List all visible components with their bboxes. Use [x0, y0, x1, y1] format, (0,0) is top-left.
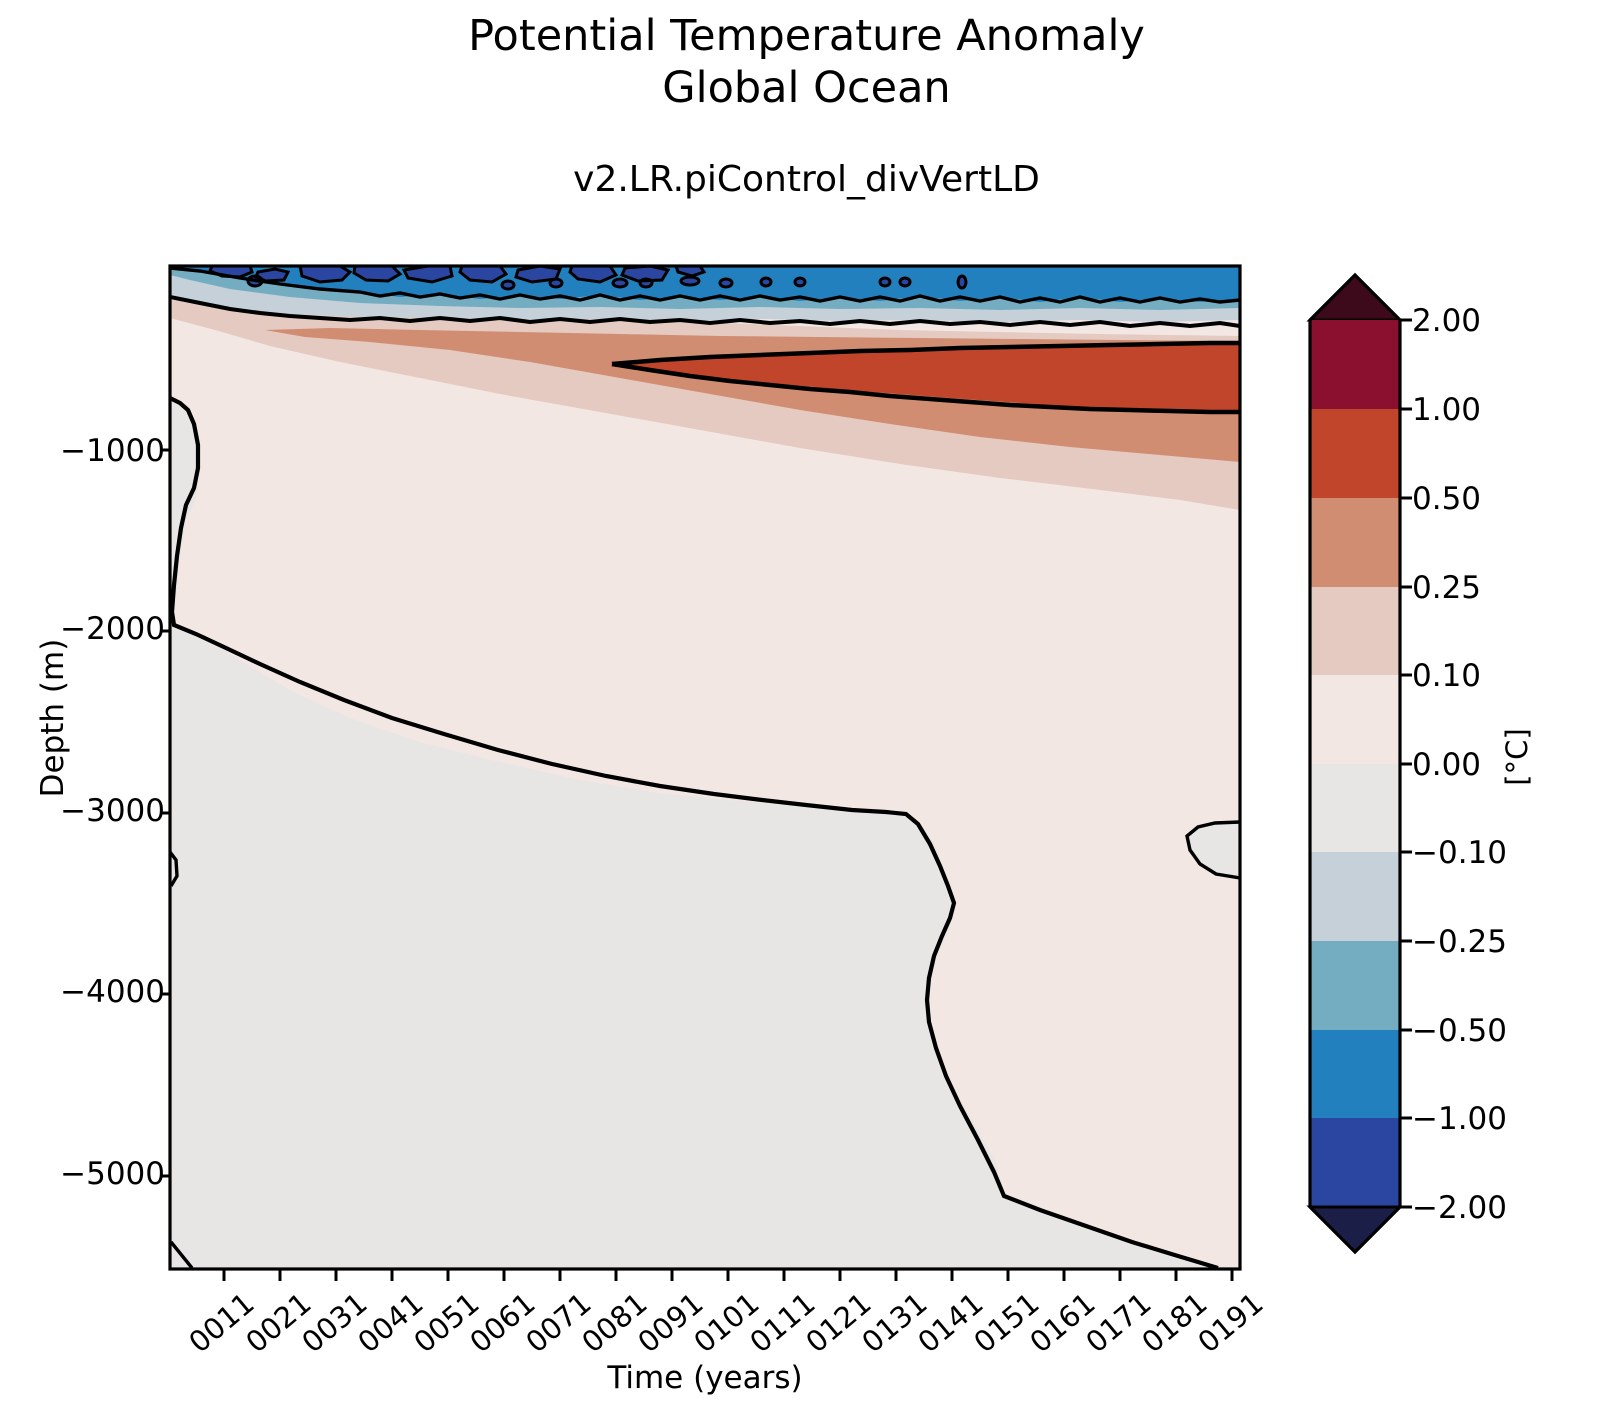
- colorbar[interactable]: [1310, 275, 1412, 1252]
- figure-container: Potential Temperature Anomaly Global Oce…: [0, 0, 1613, 1425]
- colorbar-band--0.10-0.00: [1310, 764, 1400, 852]
- colorbar-band--2.00--1.00: [1310, 1118, 1400, 1207]
- x-ticks: [224, 1269, 1232, 1281]
- colorbar-band-0.10-0.25: [1310, 587, 1400, 675]
- colorbar-band-0.25-0.50: [1310, 498, 1400, 587]
- colorbar-band--1.00--0.50: [1310, 1030, 1400, 1118]
- colorbar-band-0.00-0.10: [1310, 675, 1400, 764]
- colorbar-ticks: [1400, 320, 1412, 1207]
- colorbar-band--0.25--0.10: [1310, 852, 1400, 941]
- colorbar-extend-max: [1310, 275, 1400, 320]
- contour-cold-group: [170, 266, 1240, 322]
- contour-fill-group: [170, 266, 1240, 1269]
- colorbar-extend-min: [1310, 1207, 1400, 1252]
- colorbar-band-1.00-2.00: [1310, 320, 1400, 409]
- colorbar-band-0.50-1.00: [1310, 409, 1400, 498]
- plot-svg: [0, 0, 1613, 1425]
- colorbar-band--0.50--0.25: [1310, 941, 1400, 1030]
